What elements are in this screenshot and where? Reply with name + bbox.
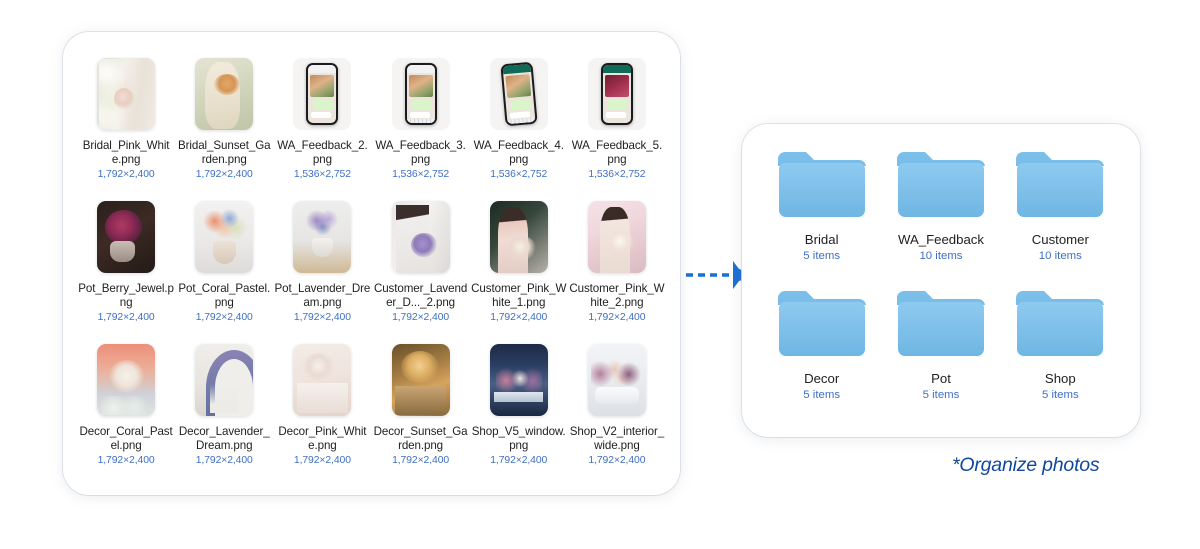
- file-name: Pot_Coral_Pastel.png: [176, 282, 272, 309]
- file-item[interactable]: Customer_Pink_White_2.png1,792×2,400: [568, 197, 666, 340]
- file-name: WA_Feedback_4.png: [471, 139, 567, 166]
- file-thumbnail[interactable]: [195, 58, 253, 130]
- photo-artwork: [588, 344, 646, 416]
- file-dimensions: 1,792×2,400: [98, 312, 155, 324]
- whatsapp-header: [407, 65, 435, 73]
- file-grid: Bridal_Pink_White.png1,792×2,400Bridal_S…: [77, 54, 666, 483]
- chat-bubble: [313, 100, 333, 110]
- file-dimensions: 1,792×2,400: [98, 169, 155, 181]
- file-name: Decor_Pink_White.png: [274, 425, 370, 452]
- file-dimensions: 1,792×2,400: [490, 455, 547, 467]
- phone-mockup: [601, 63, 633, 125]
- photo-artwork: [392, 344, 450, 416]
- chat-bubble: [606, 112, 626, 118]
- file-dimensions: 1,792×2,400: [294, 455, 351, 467]
- photo-artwork: [490, 344, 548, 416]
- folder-icon[interactable]: [1013, 287, 1107, 361]
- organized-folders-panel: Bridal5 itemsWA_Feedback10 itemsCustomer…: [742, 124, 1140, 437]
- folder-item[interactable]: Decor5 items: [762, 281, 881, 420]
- file-thumbnail[interactable]: [392, 201, 450, 273]
- file-item[interactable]: Decor_Pink_White.png1,792×2,400: [273, 340, 371, 483]
- photo-artwork: [97, 58, 155, 130]
- phone-mockup: [500, 62, 537, 127]
- file-item[interactable]: Customer_Lavender_D..._2.png1,792×2,400: [371, 197, 469, 340]
- whatsapp-header: [603, 65, 631, 73]
- file-item[interactable]: Decor_Lavender_Dream.png1,792×2,400: [175, 340, 273, 483]
- file-name: Decor_Lavender_Dream.png: [176, 425, 272, 452]
- folder-icon[interactable]: [1013, 148, 1107, 222]
- file-thumbnail[interactable]: [490, 344, 548, 416]
- file-dimensions: 1,536×2,752: [588, 169, 645, 181]
- folder-item[interactable]: WA_Feedback10 items: [881, 142, 1000, 281]
- folder-icon[interactable]: [894, 287, 988, 361]
- folder-item-count: 5 items: [803, 250, 840, 263]
- file-item[interactable]: Decor_Sunset_Garden.png1,792×2,400: [371, 340, 469, 483]
- chat-photo: [605, 75, 629, 97]
- folder-grid: Bridal5 itemsWA_Feedback10 itemsCustomer…: [762, 142, 1120, 419]
- file-thumbnail[interactable]: [293, 58, 351, 130]
- folder-item[interactable]: Pot5 items: [881, 281, 1000, 420]
- file-name: WA_Feedback_5.png: [569, 139, 665, 166]
- folder-icon[interactable]: [775, 148, 869, 222]
- file-thumbnail[interactable]: [588, 58, 646, 130]
- file-dimensions: 1,792×2,400: [490, 312, 547, 324]
- file-name: Pot_Lavender_Dream.png: [274, 282, 370, 309]
- file-name: Decor_Sunset_Garden.png: [373, 425, 469, 452]
- chat-bubble: [412, 100, 432, 110]
- file-thumbnail[interactable]: [588, 344, 646, 416]
- folder-item[interactable]: Shop5 items: [1001, 281, 1120, 420]
- file-thumbnail[interactable]: [97, 344, 155, 416]
- chat-bubble: [608, 100, 628, 110]
- folder-name: Bridal: [805, 232, 839, 247]
- file-name: Pot_Berry_Jewel.png: [78, 282, 174, 309]
- file-dimensions: 1,536×2,752: [490, 169, 547, 181]
- file-item[interactable]: Bridal_Pink_White.png1,792×2,400: [77, 54, 175, 197]
- folder-item-count: 5 items: [1042, 389, 1079, 402]
- folder-name: WA_Feedback: [898, 232, 984, 247]
- file-thumbnail[interactable]: [490, 58, 548, 130]
- folder-name: Shop: [1045, 371, 1076, 386]
- file-item[interactable]: Decor_Coral_Pastel.png1,792×2,400: [77, 340, 175, 483]
- phone-screen: [407, 65, 435, 123]
- file-name: Bridal_Pink_White.png: [78, 139, 174, 166]
- file-dimensions: 1,792×2,400: [588, 312, 645, 324]
- phone-screen: [603, 65, 631, 123]
- file-item[interactable]: Pot_Lavender_Dream.png1,792×2,400: [273, 197, 371, 340]
- file-dimensions: 1,792×2,400: [196, 455, 253, 467]
- folder-icon[interactable]: [894, 148, 988, 222]
- on-screen-keyboard: [407, 119, 435, 123]
- file-thumbnail[interactable]: [195, 201, 253, 273]
- file-thumbnail[interactable]: [97, 58, 155, 130]
- photo-artwork: [588, 201, 646, 273]
- photo-artwork: [97, 344, 155, 416]
- file-item[interactable]: Shop_V2_interior_wide.png1,792×2,400: [568, 340, 666, 483]
- file-dimensions: 1,536×2,752: [294, 169, 351, 181]
- file-dimensions: 1,792×2,400: [392, 455, 449, 467]
- file-dimensions: 1,792×2,400: [196, 169, 253, 181]
- file-item[interactable]: Pot_Coral_Pastel.png1,792×2,400: [175, 197, 273, 340]
- source-files-panel: Bridal_Pink_White.png1,792×2,400Bridal_S…: [63, 32, 680, 495]
- file-item[interactable]: WA_Feedback_2.png1,536×2,752: [273, 54, 371, 197]
- photo-artwork: [195, 58, 253, 130]
- file-item[interactable]: Customer_Pink_White_1.png1,792×2,400: [470, 197, 568, 340]
- file-item[interactable]: WA_Feedback_4.png1,536×2,752: [470, 54, 568, 197]
- chat-photo: [409, 75, 433, 97]
- whatsapp-header: [308, 65, 336, 73]
- photo-artwork: [195, 201, 253, 273]
- folder-item-count: 5 items: [803, 389, 840, 402]
- folder-item-count: 10 items: [919, 250, 962, 263]
- folder-item[interactable]: Customer10 items: [1001, 142, 1120, 281]
- file-name: WA_Feedback_2.png: [274, 139, 370, 166]
- file-dimensions: 1,792×2,400: [196, 312, 253, 324]
- file-thumbnail[interactable]: [490, 201, 548, 273]
- photo-artwork: [293, 344, 351, 416]
- file-item[interactable]: Bridal_Sunset_Garden.png1,792×2,400: [175, 54, 273, 197]
- folder-name: Pot: [931, 371, 951, 386]
- photo-artwork: [490, 201, 548, 273]
- folder-name: Customer: [1032, 232, 1089, 247]
- file-item[interactable]: Shop_V5_window.png1,792×2,400: [470, 340, 568, 483]
- file-dimensions: 1,536×2,752: [392, 169, 449, 181]
- file-thumbnail[interactable]: [392, 344, 450, 416]
- file-thumbnail[interactable]: [195, 344, 253, 416]
- file-name: Shop_V5_window.png: [471, 425, 567, 452]
- file-name: Bridal_Sunset_Garden.png: [176, 139, 272, 166]
- file-thumbnail[interactable]: [293, 344, 351, 416]
- file-name: Shop_V2_interior_wide.png: [569, 425, 665, 452]
- file-item[interactable]: Pot_Berry_Jewel.png1,792×2,400: [77, 197, 175, 340]
- phone-mockup: [405, 63, 437, 125]
- photo-artwork: [97, 201, 155, 273]
- photo-artwork: [293, 201, 351, 273]
- file-name: Customer_Pink_White_2.png: [569, 282, 665, 309]
- chat-photo: [310, 75, 334, 97]
- folder-item-count: 5 items: [923, 389, 960, 402]
- phone-screen: [502, 64, 535, 124]
- chat-photo: [505, 74, 531, 98]
- file-thumbnail[interactable]: [97, 201, 155, 273]
- photo-artwork: [392, 201, 450, 273]
- folder-icon[interactable]: [775, 287, 869, 361]
- folder-name: Decor: [804, 371, 839, 386]
- file-thumbnail[interactable]: [293, 201, 351, 273]
- file-name: Customer_Pink_White_1.png: [471, 282, 567, 309]
- chat-bubble: [410, 112, 430, 118]
- file-name: Customer_Lavender_D..._2.png: [373, 282, 469, 309]
- phone-mockup: [306, 63, 338, 125]
- file-thumbnail[interactable]: [588, 201, 646, 273]
- file-name: Decor_Coral_Pastel.png: [78, 425, 174, 452]
- organize-photos-caption: *Organize photos: [952, 454, 1099, 477]
- file-dimensions: 1,792×2,400: [294, 312, 351, 324]
- file-thumbnail[interactable]: [392, 58, 450, 130]
- file-dimensions: 1,792×2,400: [392, 312, 449, 324]
- chat-bubble: [510, 99, 531, 111]
- file-dimensions: 1,792×2,400: [98, 455, 155, 467]
- folder-item[interactable]: Bridal5 items: [762, 142, 881, 281]
- file-name: WA_Feedback_3.png: [373, 139, 469, 166]
- photo-artwork: [195, 344, 253, 416]
- whatsapp-header: [502, 64, 531, 74]
- file-item[interactable]: WA_Feedback_5.png1,536×2,752: [568, 54, 666, 197]
- folder-item-count: 10 items: [1039, 250, 1082, 263]
- chat-bubble: [311, 112, 331, 118]
- file-dimensions: 1,792×2,400: [588, 455, 645, 467]
- file-item[interactable]: WA_Feedback_3.png1,536×2,752: [371, 54, 469, 197]
- phone-screen: [308, 65, 336, 123]
